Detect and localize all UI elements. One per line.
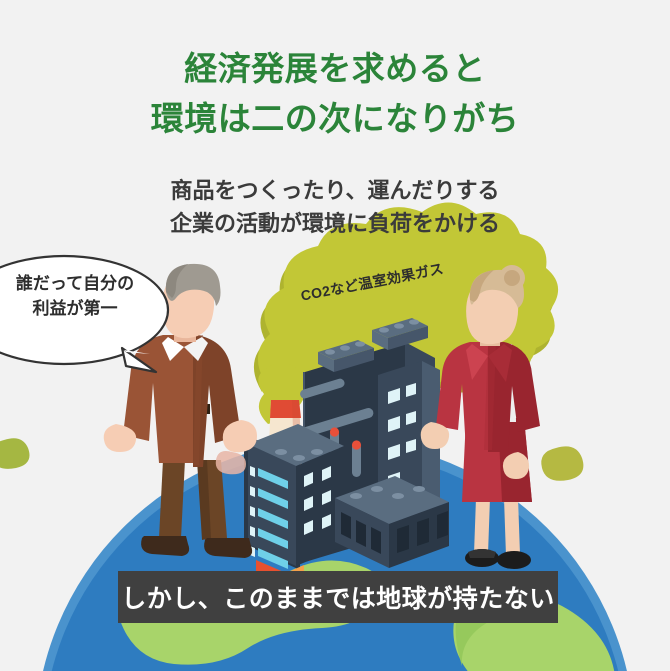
subhead-line-2: 企業の活動が環境に負荷をかける (0, 207, 670, 240)
speech-bubble-text: 誰だって自分の 利益が第一 (0, 271, 150, 321)
page-subtitle: 商品をつくったり、運んだりする 企業の活動が環境に負荷をかける (0, 174, 670, 240)
headline-line-2: 環境は二の次になりがち (0, 94, 670, 144)
headline-line-1: 経済発展を求めると (184, 50, 486, 87)
bottom-banner-text: しかし、このままでは地球が持たない (121, 579, 555, 615)
page-title: 経済発展を求めると 環境は二の次になりがち (0, 44, 670, 144)
speech-bubble-line-2: 利益が第一 (0, 296, 150, 321)
poster-canvas: 経済発展を求めると 環境は二の次になりがち 商品をつくったり、運んだりする 企業… (0, 0, 670, 671)
bottom-banner: しかし、このままでは地球が持たない (118, 571, 558, 623)
subhead-line-1: 商品をつくったり、運んだりする (170, 178, 499, 203)
speech-bubble-line-1: 誰だって自分の (16, 274, 134, 293)
speech-bubble: 誰だって自分の 利益が第一 (0, 255, 158, 363)
